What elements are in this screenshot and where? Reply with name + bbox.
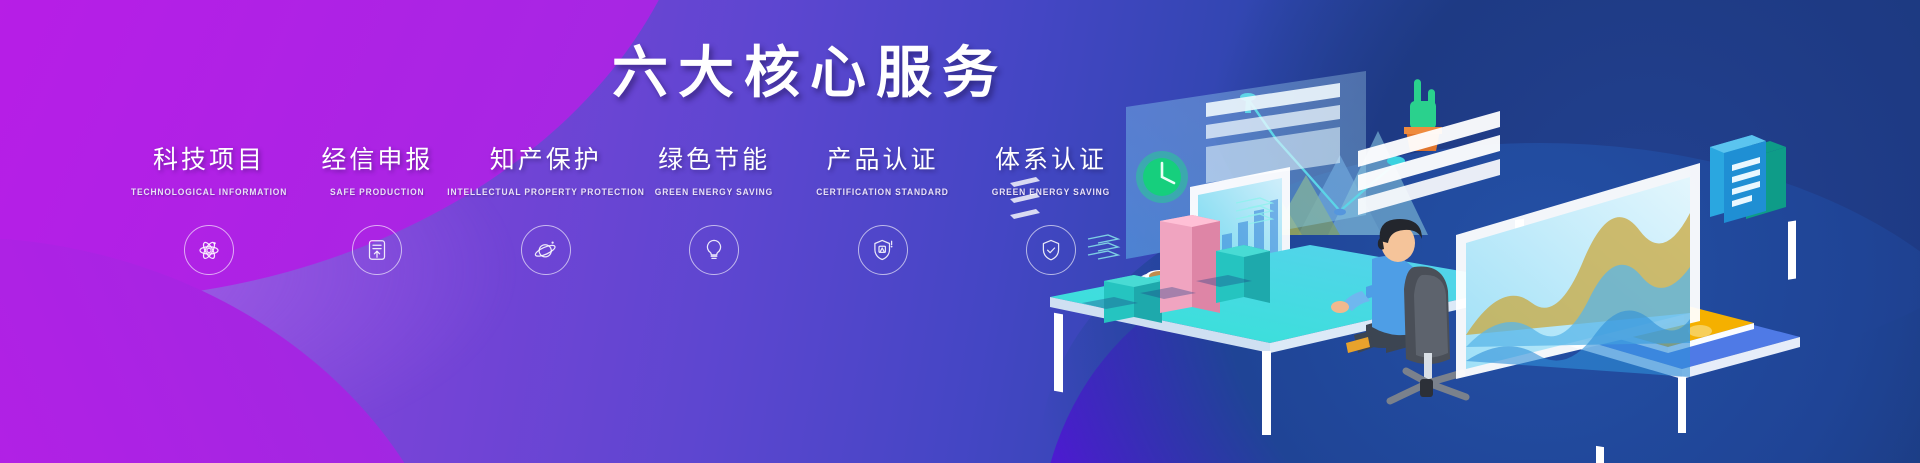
isometric-office-workspace [1010,35,1920,435]
banner-title-text: 六大核心服务 [612,28,1008,109]
service-item-safe-production[interactable]: 经信申报 SAFE PRODUCTION [298,140,456,275]
service-item-technological-information[interactable]: 科技项目 TECHNOLOGICAL INFORMATION [130,140,288,275]
service-title-cn: 知产保护 [490,140,602,176]
service-list: 科技项目 TECHNOLOGICAL INFORMATION 经信申报 SAFE… [130,140,1130,275]
service-title-en: SAFE PRODUCTION [330,187,424,197]
document-upload-icon[interactable] [352,225,402,275]
service-title-cn: 科技项目 [153,140,265,176]
shield-badge-icon[interactable] [858,225,908,275]
atom-icon[interactable] [184,225,234,275]
promo-banner: 六大核心服务 科技项目 TECHNOLOGICAL INFORMATION 经信… [0,0,1920,463]
left-line-marks [1010,177,1040,219]
lightbulb-icon[interactable] [689,225,739,275]
document-stack-icon [1710,135,1786,223]
service-item-certification-standard[interactable]: 产品认证 CERTIFICATION STANDARD [804,140,962,275]
clock-widget [1136,151,1188,203]
service-title-cn: 绿色节能 [658,140,770,176]
service-title-en: TECHNOLOGICAL INFORMATION [131,187,287,197]
service-item-intellectual-property-protection[interactable]: 知产保护 INTELLECTUAL PROPERTY PROTECTION [467,140,625,275]
service-title-en: GREEN ENERGY SAVING [655,187,773,197]
service-title-en: CERTIFICATION STANDARD [816,187,949,197]
service-title-cn: 经信申报 [321,140,433,176]
planet-icon[interactable] [521,225,571,275]
area-chart-panel [1456,163,1700,379]
service-item-green-energy-saving[interactable]: 绿色节能 GREEN ENERGY SAVING [635,140,793,275]
service-title-en: INTELLECTUAL PROPERTY PROTECTION [447,187,644,197]
service-title-cn: 产品认证 [827,140,939,176]
